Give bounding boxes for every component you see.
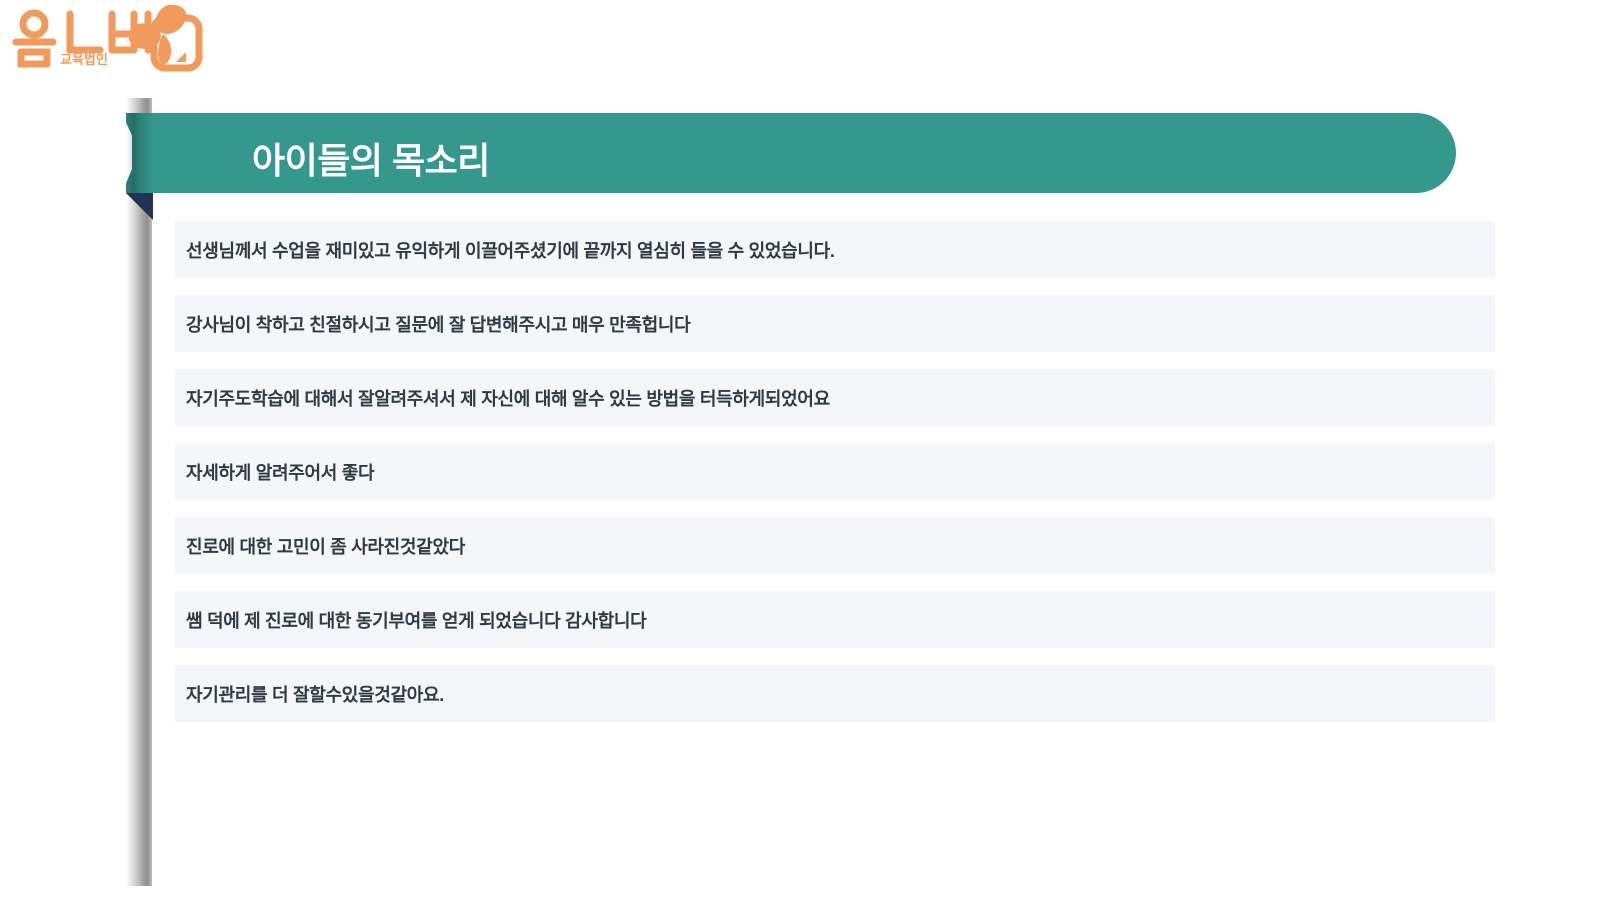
page-title: 아이들의 목소리 [252,132,490,184]
quote-text: 진로에 대한 고민이 좀 사라진것같았다 [175,533,465,559]
section-banner: 아이들의 목소리 [126,113,1456,221]
brand-logo: 교육법인 [8,2,208,74]
banner-tail-decoration [126,193,153,220]
list-item: 강사님이 착하고 친절하시고 질문에 잘 답변해주시고 매우 만족헙니다 [175,295,1495,352]
list-item: 자세하게 알려주어서 좋다 [175,443,1495,500]
list-item: 선생님께서 수업을 재미있고 유익하게 이끌어주셨기에 끝까지 열심히 들을 수… [175,221,1495,278]
list-item: 진로에 대한 고민이 좀 사라진것같았다 [175,517,1495,574]
banner-fold-decoration [126,113,153,193]
quote-list: 선생님께서 수업을 재미있고 유익하게 이끌어주셨기에 끝까지 열심히 들을 수… [175,221,1495,739]
logo-subtitle: 교육법인 [60,52,108,67]
list-item: 쌤 덕에 제 진로에 대한 동기부여를 얻게 되었습니다 감사합니다 [175,591,1495,648]
quote-text: 자기관리를 더 잘할수있을것같아요. [175,681,444,707]
list-item: 자기주도학습에 대해서 잘알려주셔서 제 자신에 대해 알수 있는 방법을 터득… [175,369,1495,426]
quote-text: 쌤 덕에 제 진로에 대한 동기부여를 얻게 되었습니다 감사합니다 [175,607,646,633]
quote-text: 강사님이 착하고 친절하시고 질문에 잘 답변해주시고 매우 만족헙니다 [175,311,690,337]
quote-text: 자기주도학습에 대해서 잘알려주셔서 제 자신에 대해 알수 있는 방법을 터득… [175,385,830,411]
quote-text: 선생님께서 수업을 재미있고 유익하게 이끌어주셨기에 끝까지 열심히 들을 수… [175,237,835,263]
onnabi-logo-icon: 교육법인 [8,2,208,74]
quote-text: 자세하게 알려주어서 좋다 [175,459,374,485]
list-item: 자기관리를 더 잘할수있을것같아요. [175,665,1495,722]
